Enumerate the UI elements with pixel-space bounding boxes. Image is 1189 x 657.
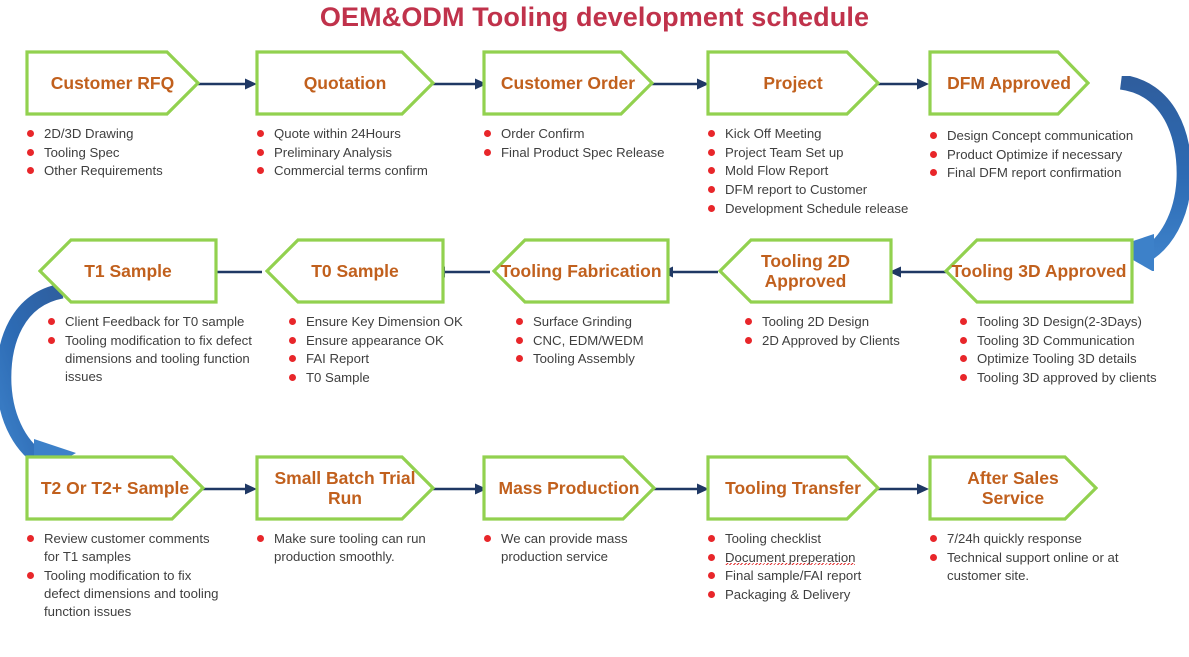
bullet-dot-icon	[930, 151, 937, 158]
list-item: Surface Grinding	[514, 313, 707, 331]
bullet-text: Tooling 3D Design(2-3Days)	[977, 314, 1142, 329]
list-item: Tooling Assembly	[514, 350, 707, 368]
arrow-right-glyph	[650, 482, 710, 496]
bullet-text: Tooling Spec	[44, 145, 120, 160]
list-item: Project Team Set up	[706, 144, 921, 162]
bullet-list: Make sure tooling can run production smo…	[255, 530, 455, 566]
arrow-right-icon	[198, 77, 258, 91]
stage-label: Customer Order	[495, 73, 641, 93]
chevron-t0-sample[interactable]: T0 Sample	[265, 238, 445, 304]
stage-tooling-3d-approved[interactable]: Tooling 3D Approved Tooling 3D Design(2-…	[944, 238, 1184, 388]
bullet-list: Tooling 2D Design 2D Approved by Clients	[743, 313, 933, 350]
chevron-tooling-3d-approved[interactable]: Tooling 3D Approved	[944, 238, 1134, 304]
bullet-text: Final DFM report confirmation	[947, 165, 1121, 180]
list-item: Packaging & Delivery	[706, 586, 911, 604]
list-item: T0 Sample	[287, 369, 483, 387]
bullet-text: Tooling Assembly	[533, 351, 635, 366]
arrow-right-glyph	[198, 77, 258, 91]
list-item: Tooling 2D Design	[743, 313, 933, 331]
list-item: Preliminary Analysis	[255, 144, 465, 162]
bullet-list: Kick Off Meeting Project Team Set up Mol…	[706, 125, 921, 218]
arrow-right-glyph	[874, 482, 930, 496]
arrow-right-icon	[650, 482, 710, 496]
list-item: Ensure Key Dimension OK	[287, 313, 483, 331]
bullet-dot-icon	[708, 535, 715, 542]
list-item: Tooling 3D approved by clients	[958, 369, 1184, 387]
chevron-customer-rfq[interactable]: Customer RFQ	[25, 50, 200, 116]
chevron-t1-sample[interactable]: T1 Sample	[38, 238, 218, 304]
stage-tooling-2d-approved[interactable]: Tooling 2D Approved Tooling 2D Design 2D…	[718, 238, 933, 350]
chevron-t2-sample[interactable]: T2 Or T2+ Sample	[25, 455, 205, 521]
stage-quotation[interactable]: Quotation Quote within 24Hours Prelimina…	[255, 50, 465, 181]
chevron-after-sales-service[interactable]: After Sales Service	[928, 455, 1098, 521]
bullet-text: 2D/3D Drawing	[44, 126, 133, 141]
bullet-text: Development Schedule release	[725, 201, 908, 216]
bullet-text: Commercial terms confirm	[274, 163, 428, 178]
bullet-list: 7/24h quickly response Technical support…	[928, 530, 1158, 585]
arrow-right-glyph	[428, 77, 488, 91]
bullet-dot-icon	[708, 572, 715, 579]
bullet-dot-icon	[484, 149, 491, 156]
stage-label: Small Batch Trial Run	[255, 468, 435, 509]
bullet-dot-icon	[27, 149, 34, 156]
bullet-text: Design Concept communication	[947, 128, 1133, 143]
curve-arrow-row2-to-row3	[0, 283, 80, 475]
bullet-list: Quote within 24Hours Preliminary Analysi…	[255, 125, 465, 181]
bullet-text: CNC, EDM/WEDM	[533, 333, 644, 348]
bullet-dot-icon	[960, 318, 967, 325]
arrow-right-icon	[198, 482, 258, 496]
stage-customer-order[interactable]: Customer Order Order Confirm Final Produ…	[482, 50, 692, 162]
list-item: CNC, EDM/WEDM	[514, 332, 707, 350]
bullet-text: Packaging & Delivery	[725, 587, 850, 602]
stage-label: Mass Production	[493, 478, 646, 498]
list-item: Tooling checklist	[706, 530, 911, 548]
bullet-text: Surface Grinding	[533, 314, 632, 329]
bullet-list: Review customer comments for T1 samples …	[25, 530, 225, 622]
bullet-dot-icon	[745, 318, 752, 325]
bullet-text: Final sample/FAI report	[725, 568, 861, 583]
bullet-text: Tooling 3D Communication	[977, 333, 1135, 348]
bullet-list: We can provide mass production service	[482, 530, 682, 566]
bullet-dot-icon	[708, 205, 715, 212]
bullet-dot-icon	[708, 554, 715, 561]
list-item: Development Schedule release	[706, 200, 921, 218]
bullet-text: 7/24h quickly response	[947, 531, 1082, 546]
chevron-quotation[interactable]: Quotation	[255, 50, 435, 116]
stage-t0-sample[interactable]: T0 Sample Ensure Key Dimension OK Ensure…	[265, 238, 483, 388]
bullet-dot-icon	[708, 130, 715, 137]
bullet-text: Mold Flow Report	[725, 163, 828, 178]
bullet-list: Surface Grinding CNC, EDM/WEDM Tooling A…	[514, 313, 707, 369]
bullet-list: Tooling checklist Document preperation F…	[706, 530, 911, 604]
chevron-tooling-transfer[interactable]: Tooling Transfer	[706, 455, 880, 521]
page-title: OEM&ODM Tooling development schedule	[0, 2, 1189, 33]
bullet-dot-icon	[930, 535, 937, 542]
stage-project[interactable]: Project Kick Off Meeting Project Team Se…	[706, 50, 921, 219]
stage-label: Customer RFQ	[45, 73, 180, 93]
bullet-text: Project Team Set up	[725, 145, 844, 160]
bullet-text-misspelled: Document preperation	[725, 550, 855, 566]
arrow-right-icon	[428, 482, 488, 496]
stage-small-batch-trial-run[interactable]: Small Batch Trial Run Make sure tooling …	[255, 455, 470, 567]
arrow-right-icon	[428, 77, 488, 91]
bullet-dot-icon	[708, 167, 715, 174]
stage-label: Tooling Fabrication	[494, 261, 667, 281]
bullet-text: Tooling modification to fix defect dimen…	[65, 333, 252, 384]
bullet-dot-icon	[257, 149, 264, 156]
stage-label: Tooling Transfer	[719, 478, 867, 498]
list-item: Technical support online or at customer …	[928, 549, 1158, 585]
bullet-text: Ensure appearance OK	[306, 333, 444, 348]
bullet-text: Tooling checklist	[725, 531, 821, 546]
stage-after-sales-service[interactable]: After Sales Service 7/24h quickly respon…	[928, 455, 1168, 586]
stage-mass-production[interactable]: Mass Production We can provide mass prod…	[482, 455, 697, 567]
bullet-text: T0 Sample	[306, 370, 370, 385]
bullet-dot-icon	[484, 535, 491, 542]
stage-label: Project	[757, 73, 828, 93]
list-item: Optimize Tooling 3D details	[958, 350, 1184, 368]
bullet-text: Ensure Key Dimension OK	[306, 314, 463, 329]
list-item: Document preperation	[706, 549, 911, 567]
bullet-text: Tooling 2D Design	[762, 314, 869, 329]
arrow-right-glyph	[874, 77, 930, 91]
chevron-customer-order[interactable]: Customer Order	[482, 50, 654, 116]
bullet-list: Tooling 3D Design(2-3Days) Tooling 3D Co…	[958, 313, 1184, 387]
stage-customer-rfq[interactable]: Customer RFQ 2D/3D Drawing Tooling Spec …	[25, 50, 230, 181]
bullet-dot-icon	[27, 167, 34, 174]
list-item: We can provide mass production service	[482, 530, 682, 566]
stage-label: DFM Approved	[941, 73, 1077, 93]
list-item: Tooling Spec	[25, 144, 230, 162]
stage-label: T0 Sample	[305, 261, 405, 281]
bullet-dot-icon	[745, 337, 752, 344]
list-item: Commercial terms confirm	[255, 162, 465, 180]
bullet-text: Make sure tooling can run production smo…	[274, 531, 426, 564]
bullet-text: We can provide mass production service	[501, 531, 628, 564]
bullet-text: Kick Off Meeting	[725, 126, 822, 141]
bullet-text: DFM report to Customer	[725, 182, 867, 197]
bullet-list: Order Confirm Final Product Spec Release	[482, 125, 692, 162]
stage-tooling-fabrication[interactable]: Tooling Fabrication Surface Grinding CNC…	[492, 238, 707, 369]
bullet-text: Product Optimize if necessary	[947, 147, 1122, 162]
bullet-list: Ensure Key Dimension OK Ensure appearanc…	[287, 313, 483, 387]
bullet-text: Technical support online or at customer …	[947, 550, 1119, 583]
chevron-dfm-approved[interactable]: DFM Approved	[928, 50, 1090, 116]
list-item: Make sure tooling can run production smo…	[255, 530, 455, 566]
bullet-dot-icon	[257, 130, 264, 137]
bullet-dot-icon	[930, 132, 937, 139]
bullet-dot-icon	[289, 374, 296, 381]
arrow-right-icon	[874, 482, 930, 496]
stage-label: Tooling 2D Approved	[718, 251, 893, 292]
list-item: Ensure appearance OK	[287, 332, 483, 350]
bullet-dot-icon	[516, 337, 523, 344]
list-item: Order Confirm	[482, 125, 692, 143]
bullet-dot-icon	[484, 130, 491, 137]
bullet-text: Preliminary Analysis	[274, 145, 392, 160]
bullet-dot-icon	[27, 572, 34, 579]
list-item: Tooling 3D Communication	[958, 332, 1184, 350]
bullet-dot-icon	[257, 535, 264, 542]
chevron-tooling-2d-approved[interactable]: Tooling 2D Approved	[718, 238, 893, 304]
arrow-right-icon	[650, 77, 710, 91]
stage-t2-sample[interactable]: T2 Or T2+ Sample Review customer comment…	[25, 455, 245, 622]
bullet-dot-icon	[257, 167, 264, 174]
bullet-text: Order Confirm	[501, 126, 585, 141]
list-item: DFM report to Customer	[706, 181, 921, 199]
stage-label: After Sales Service	[928, 468, 1098, 509]
chevron-tooling-fabrication[interactable]: Tooling Fabrication	[492, 238, 670, 304]
bullet-dot-icon	[960, 355, 967, 362]
list-item: Final sample/FAI report	[706, 567, 911, 585]
list-item: Mold Flow Report	[706, 162, 921, 180]
bullet-dot-icon	[960, 374, 967, 381]
bullet-dot-icon	[27, 535, 34, 542]
arrow-right-glyph	[650, 77, 710, 91]
list-item: 7/24h quickly response	[928, 530, 1158, 548]
bullet-list: 2D/3D Drawing Tooling Spec Other Require…	[25, 125, 230, 181]
list-item: Tooling modification to fix defect dimen…	[25, 567, 225, 622]
bullet-text: Other Requirements	[44, 163, 163, 178]
list-item: Review customer comments for T1 samples	[25, 530, 225, 566]
list-item: 2D Approved by Clients	[743, 332, 933, 350]
stage-label: Quotation	[298, 73, 393, 93]
list-item: Tooling 3D Design(2-3Days)	[958, 313, 1184, 331]
bullet-dot-icon	[960, 337, 967, 344]
stage-tooling-transfer[interactable]: Tooling Transfer Tooling checklist Docum…	[706, 455, 921, 605]
bullet-text: Review customer comments for T1 samples	[44, 531, 210, 564]
arrow-left-glyph	[888, 265, 946, 279]
curved-arrow-left-icon	[0, 283, 80, 475]
bullet-text: Tooling 3D approved by clients	[977, 370, 1157, 385]
list-item: Kick Off Meeting	[706, 125, 921, 143]
bullet-dot-icon	[289, 337, 296, 344]
bullet-dot-icon	[27, 130, 34, 137]
bullet-text: Final Product Spec Release	[501, 145, 664, 160]
bullet-text: Client Feedback for T0 sample	[65, 314, 244, 329]
list-item: FAI Report	[287, 350, 483, 368]
bullet-dot-icon	[930, 554, 937, 561]
chevron-small-batch-trial-run[interactable]: Small Batch Trial Run	[255, 455, 435, 521]
bullet-text: Optimize Tooling 3D details	[977, 351, 1137, 366]
chevron-mass-production[interactable]: Mass Production	[482, 455, 656, 521]
bullet-dot-icon	[516, 355, 523, 362]
arrow-left-icon	[888, 265, 946, 279]
bullet-dot-icon	[708, 591, 715, 598]
bullet-dot-icon	[708, 149, 715, 156]
stage-label: T2 Or T2+ Sample	[35, 478, 195, 498]
chevron-project[interactable]: Project	[706, 50, 880, 116]
list-item: Final Product Spec Release	[482, 144, 692, 162]
bullet-dot-icon	[516, 318, 523, 325]
bullet-text: Quote within 24Hours	[274, 126, 401, 141]
bullet-dot-icon	[930, 169, 937, 176]
list-item: Quote within 24Hours	[255, 125, 465, 143]
bullet-dot-icon	[289, 355, 296, 362]
bullet-text: FAI Report	[306, 351, 369, 366]
arrow-right-icon	[874, 77, 930, 91]
stage-label: T1 Sample	[78, 261, 178, 281]
list-item: Other Requirements	[25, 162, 230, 180]
arrow-right-glyph	[198, 482, 258, 496]
bullet-text: Tooling modification to fix defect dimen…	[44, 568, 218, 619]
bullet-text: 2D Approved by Clients	[762, 333, 900, 348]
bullet-dot-icon	[289, 318, 296, 325]
bullet-dot-icon	[708, 186, 715, 193]
list-item: 2D/3D Drawing	[25, 125, 230, 143]
arrow-right-glyph	[428, 482, 488, 496]
stage-label: Tooling 3D Approved	[946, 261, 1133, 281]
